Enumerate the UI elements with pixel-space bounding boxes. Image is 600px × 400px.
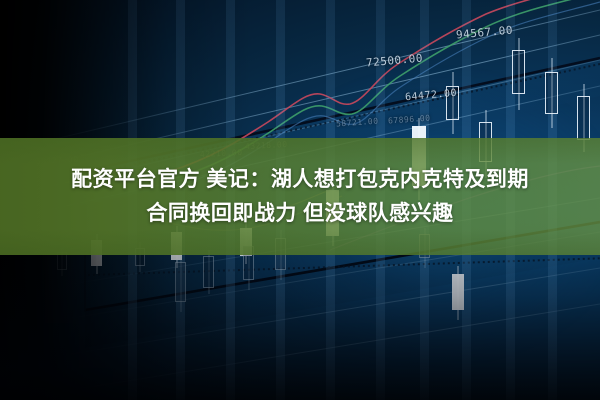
headline-line-2: 合同换回即战力 但没球队感兴趣 [146, 200, 453, 228]
banner-image: 94567.00 72500.00 64472.00 58721.00 6789… [0, 0, 600, 400]
headline-line-1: 配资平台官方 美记：湖人想打包克内克特及到期 [71, 166, 529, 194]
headline-text: 配资平台官方 美记：湖人想打包克内克特及到期 合同换回即战力 但没球队感兴趣 [0, 138, 600, 255]
